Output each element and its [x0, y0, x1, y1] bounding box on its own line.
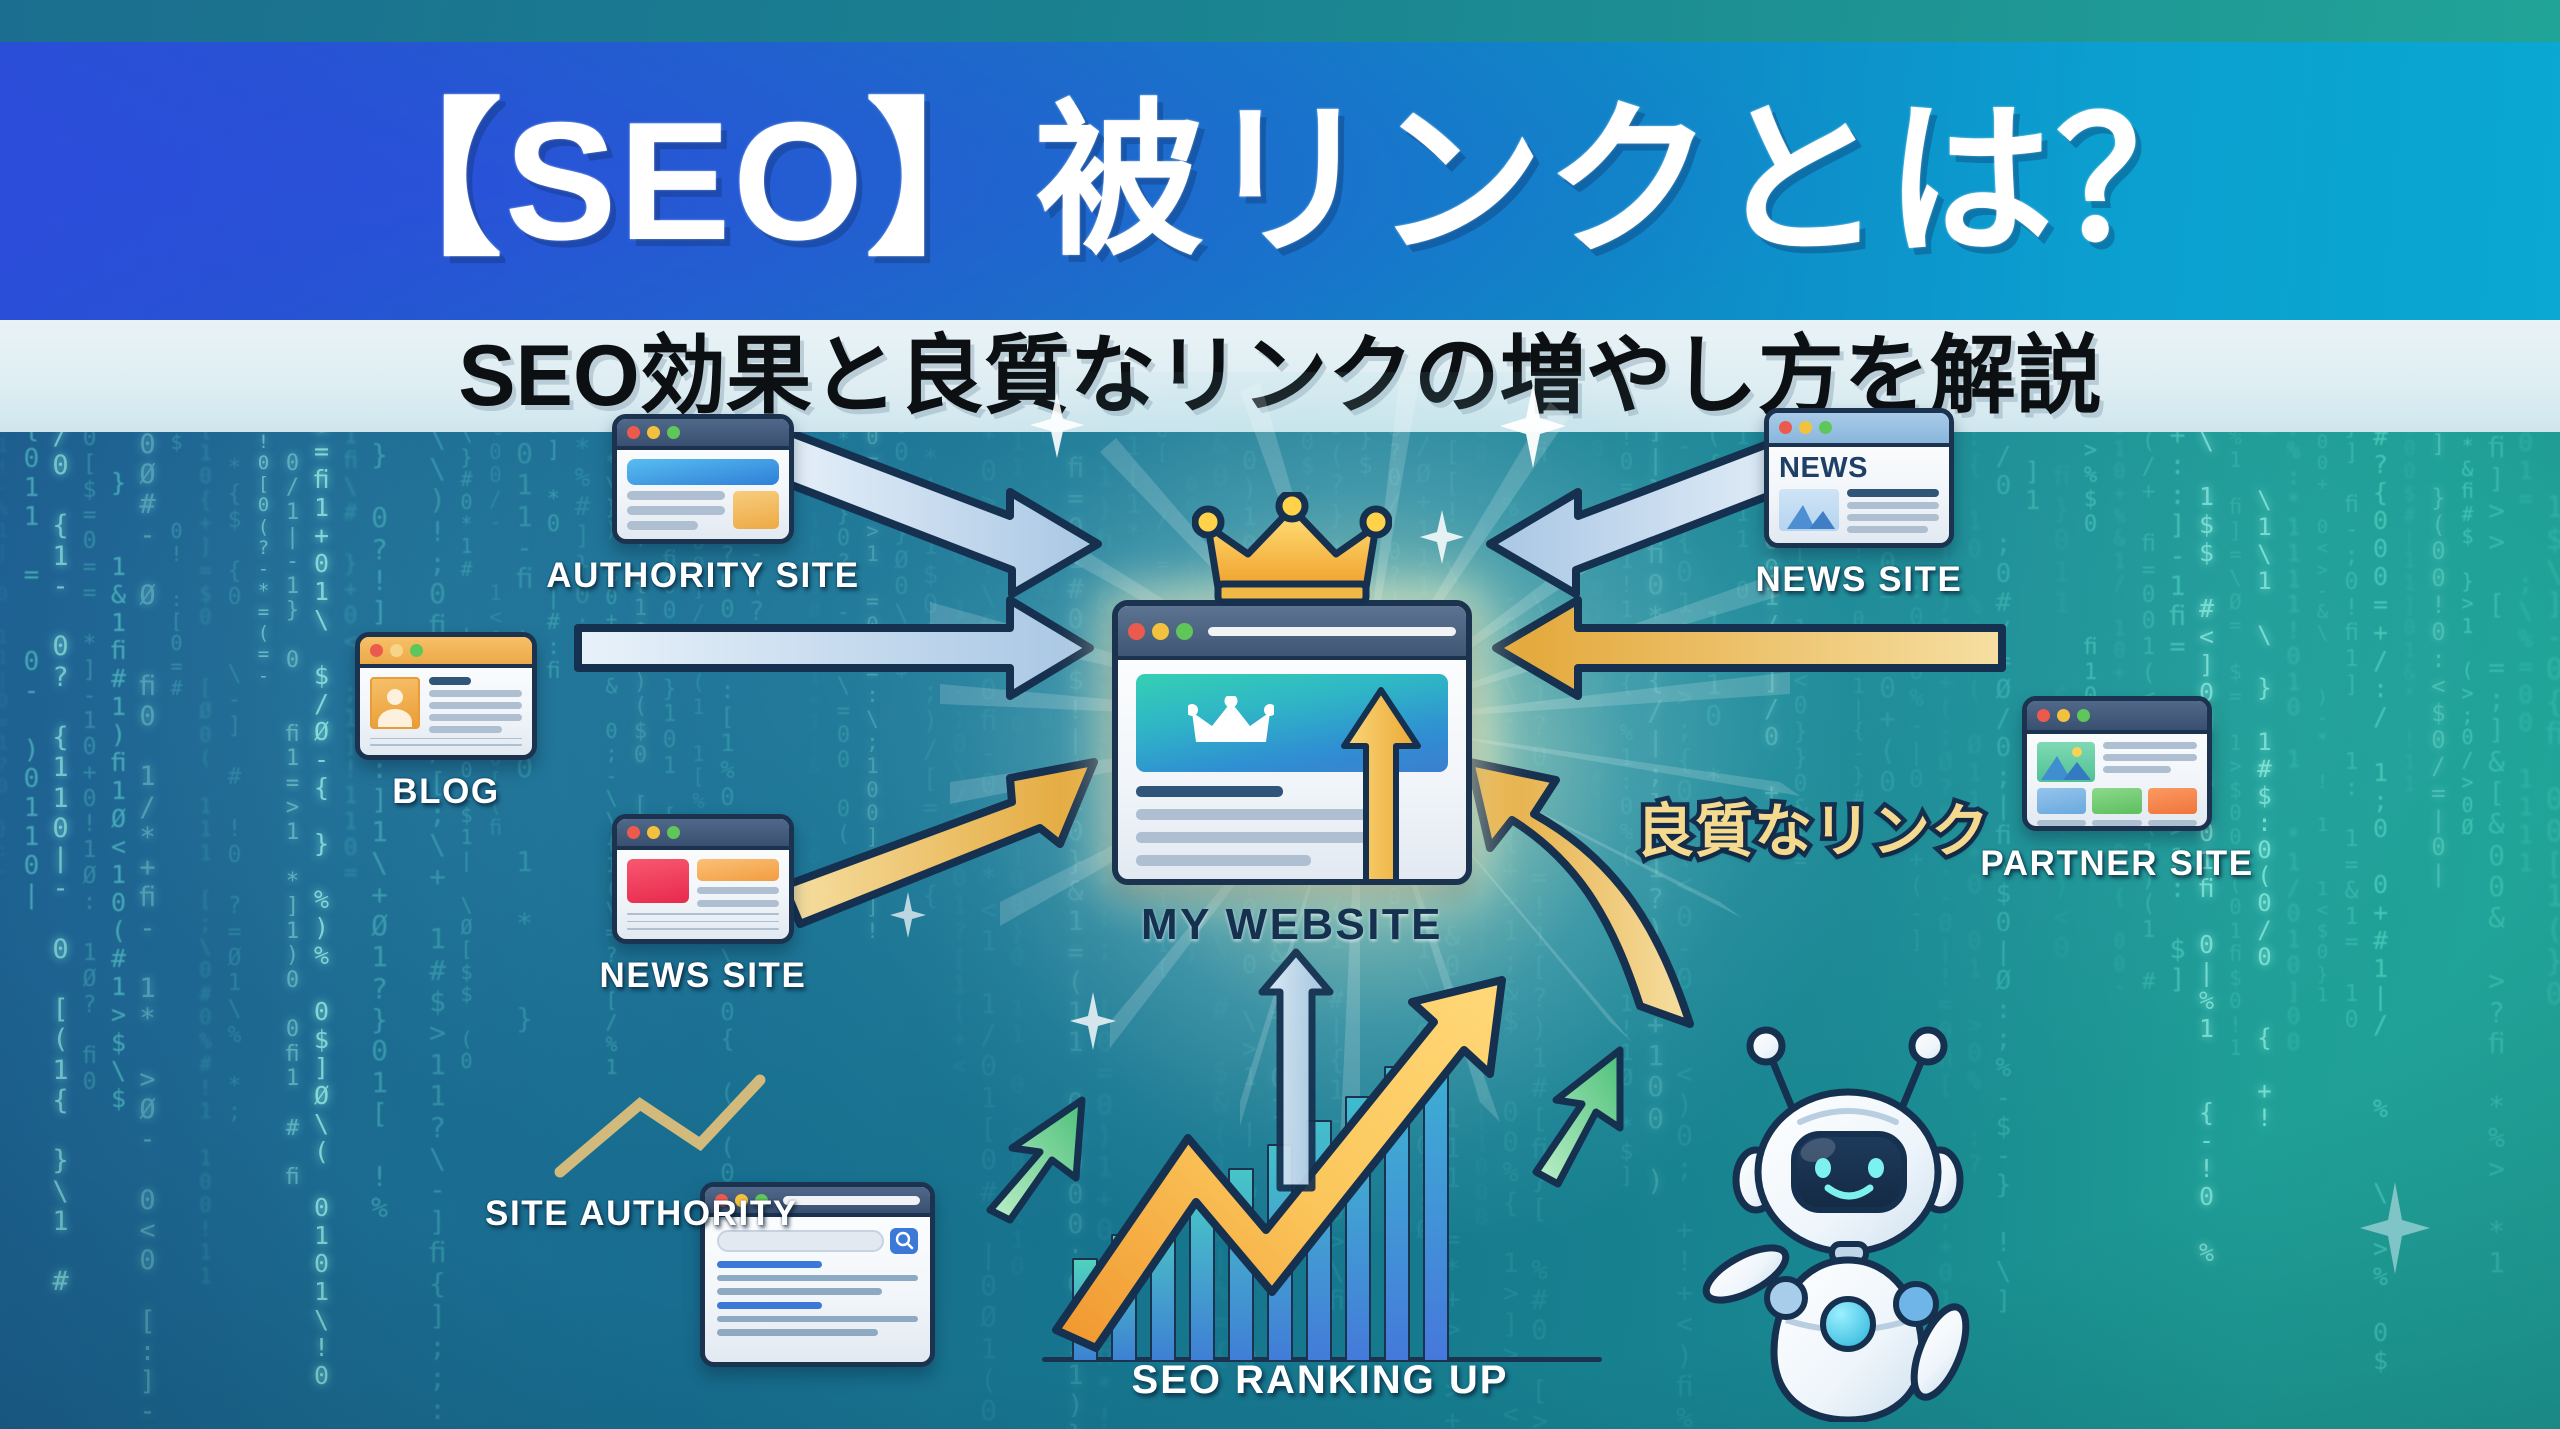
window-maximize-dot[interactable]	[1176, 623, 1193, 640]
window-maximize-dot	[667, 426, 680, 439]
sparkle-icon	[890, 892, 926, 938]
node-label: PARTNER SITE	[1980, 844, 2253, 884]
thumbnail	[627, 459, 779, 485]
window-close-dot	[370, 644, 383, 657]
window-minimize-dot	[1799, 421, 1812, 434]
crown-icon	[1188, 696, 1274, 752]
highlight-tile	[733, 491, 779, 529]
avatar	[370, 677, 420, 729]
node-news-site-right[interactable]: NEWS	[1764, 408, 1954, 548]
browser-window-news-icon	[612, 814, 794, 944]
window-close-dot	[627, 826, 640, 839]
sparkle-icon	[1420, 510, 1464, 564]
browser-window-icon	[1112, 600, 1472, 885]
window-maximize-dot	[1819, 421, 1832, 434]
browser-window-icon	[612, 414, 794, 544]
window-close-dot[interactable]	[1128, 623, 1145, 640]
trend-up-arrow-icon	[1020, 962, 1620, 1392]
node-site-authority[interactable]: SITE AUTHORITY	[700, 1182, 935, 1367]
node-my-website[interactable]: MY WEBSITE	[1112, 600, 1472, 885]
tile-green	[2092, 788, 2141, 814]
page-title: 【SEO】被リンクとは？	[335, 97, 2226, 265]
hero-banner	[1136, 674, 1448, 772]
window-minimize-dot	[647, 426, 660, 439]
chart-label: SEO RANKING UP	[1132, 1358, 1509, 1403]
title-bar	[360, 637, 532, 668]
sparkle-icon	[2360, 1182, 2430, 1274]
window-minimize-dot	[2057, 709, 2070, 722]
url-bar[interactable]	[1208, 627, 1456, 636]
browser-window-tiles-icon	[2022, 696, 2212, 831]
node-label: NEWS SITE	[1756, 560, 1963, 600]
node-label: SITE AUTHORITY	[485, 1194, 715, 1234]
window-close-dot	[2037, 709, 2050, 722]
sparkle-icon	[935, 488, 969, 530]
window-content	[360, 668, 532, 755]
seo-ranking-chart: SEO RANKING UP	[1020, 962, 1620, 1392]
node-blog[interactable]: BLOG	[355, 632, 537, 760]
arrow-site-authority-zigzag	[560, 1080, 760, 1172]
subtitle-band: SEO効果と良質なリンクの増やし方を解説	[0, 320, 2560, 432]
window-content: NEWS	[1769, 447, 1949, 543]
title-bar	[2027, 701, 2207, 734]
node-label: BLOG	[392, 772, 500, 812]
crown-icon	[1192, 492, 1392, 612]
title-bar	[617, 819, 789, 850]
node-news-site-left[interactable]: NEWS SITE	[612, 814, 794, 944]
link-quality-label: 良質なリンク	[1636, 784, 1990, 868]
diagram-area: AUTHORITY SITE	[0, 432, 2560, 1429]
image-placeholder-icon	[2037, 742, 2095, 782]
window-close-dot	[627, 426, 640, 439]
url-bar	[783, 1196, 920, 1205]
node-label: AUTHORITY SITE	[546, 556, 859, 596]
infographic-canvas: 0 : 1 ; 1 0 0 \ ﬁ 0 1 = ﬁ 0 - - ﬁ - ( ? …	[0, 0, 2560, 1429]
node-partner-site[interactable]: PARTNER SITE	[2022, 696, 2212, 831]
page-subtitle: SEO効果と良質なリンクの増やし方を解説	[458, 333, 2102, 419]
tile-blue	[2037, 788, 2086, 814]
window-maximize-dot	[2077, 709, 2090, 722]
title-band: 【SEO】被リンクとは？	[0, 42, 2560, 320]
robot-mascot-icon	[1690, 1022, 2010, 1422]
tile-orange	[2148, 788, 2197, 814]
arrow-news-left-to-site	[784, 762, 1094, 924]
title-bar	[617, 419, 789, 450]
node-label: NEWS SITE	[600, 956, 807, 996]
arrow-blog-to-site	[578, 600, 1090, 696]
window-maximize-dot	[667, 826, 680, 839]
news-headline: NEWS	[1779, 454, 1939, 483]
up-arrow-icon	[1338, 684, 1424, 885]
top-strip	[0, 0, 2560, 42]
node-authority-site[interactable]: AUTHORITY SITE	[612, 414, 794, 544]
window-minimize-dot	[390, 644, 403, 657]
thumbnail-orange	[697, 859, 779, 881]
window-minimize-dot[interactable]	[1152, 623, 1169, 640]
browser-window-news-icon: NEWS	[1764, 408, 1954, 548]
image-placeholder-icon	[1779, 489, 1839, 531]
window-minimize-dot	[647, 826, 660, 839]
window-content	[705, 1217, 930, 1347]
arrow-partner-to-site	[1496, 600, 2002, 696]
search-icon[interactable]	[890, 1228, 918, 1254]
title-bar	[1118, 606, 1466, 660]
node-label: MY WEBSITE	[1141, 900, 1443, 950]
window-content	[2027, 734, 2207, 827]
browser-window-avatar-icon	[355, 632, 537, 760]
window-content	[617, 850, 789, 939]
search-input[interactable]	[717, 1230, 884, 1252]
window-content	[617, 450, 789, 539]
title-bar	[1769, 413, 1949, 447]
window-close-dot	[1779, 421, 1792, 434]
thumbnail-red	[627, 859, 689, 903]
window-maximize-dot	[410, 644, 423, 657]
